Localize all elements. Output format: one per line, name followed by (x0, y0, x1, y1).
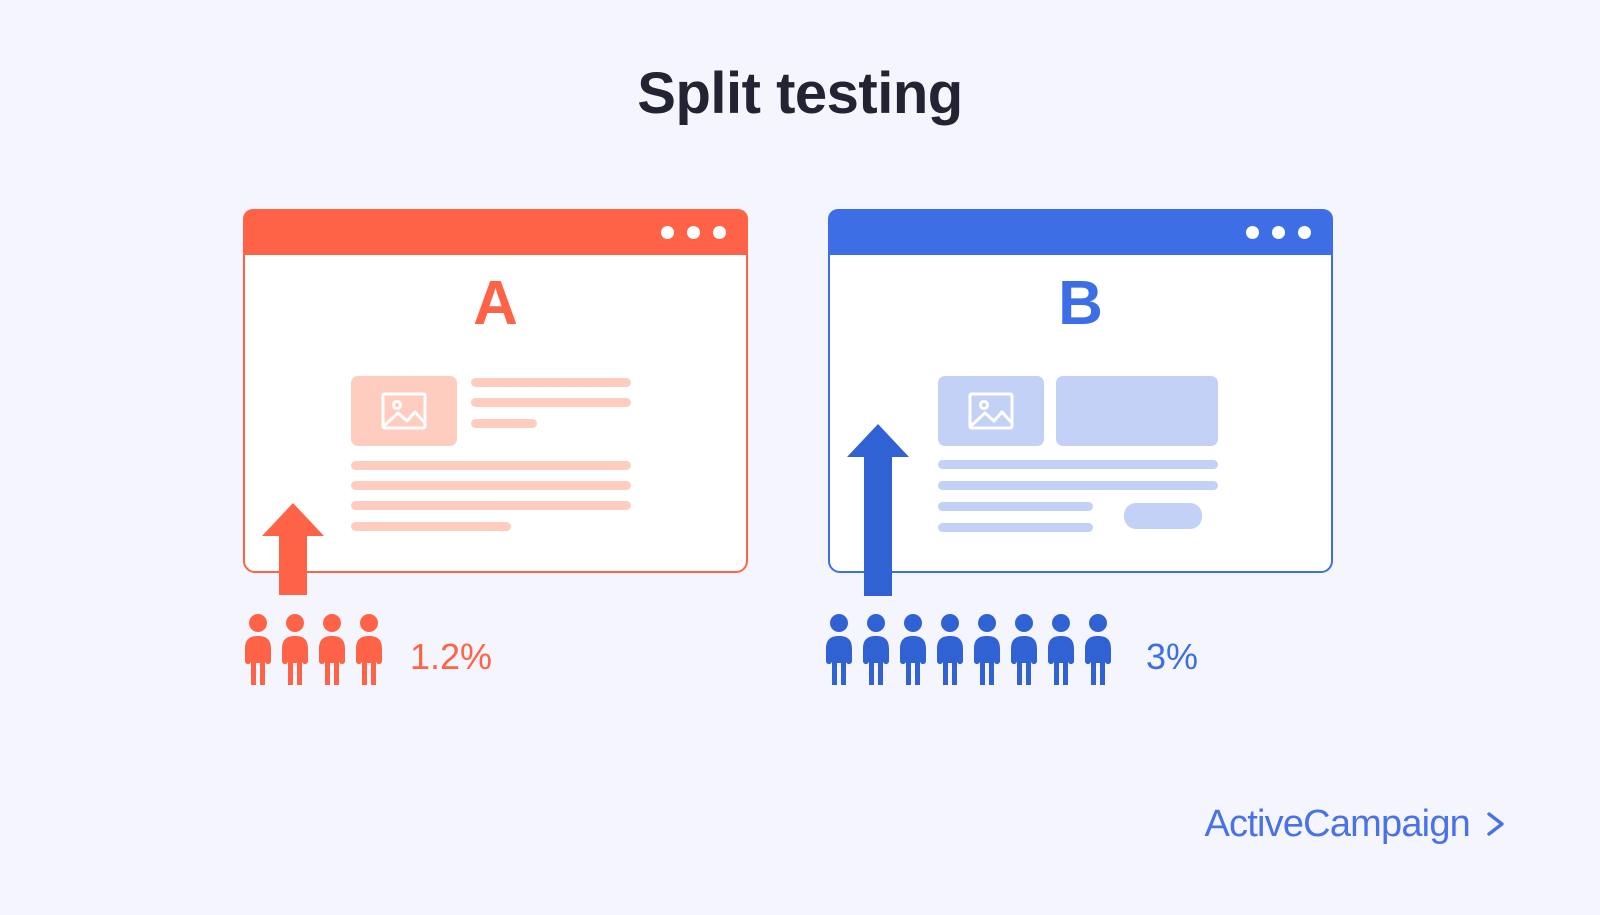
variant-letter-b: B (828, 273, 1333, 335)
person-icon (354, 613, 384, 685)
person-icon (972, 613, 1002, 685)
content-line (471, 378, 631, 387)
person-icon (243, 613, 273, 685)
window-dot-icon[interactable] (1272, 226, 1285, 239)
window-dot-icon[interactable] (1298, 226, 1311, 239)
growth-arrow-a (262, 503, 324, 595)
person-icon (280, 613, 310, 685)
content-cta-button-b[interactable] (1124, 503, 1202, 529)
variant-letter-a: A (243, 273, 748, 335)
growth-arrow-b (847, 424, 909, 596)
window-dot-icon[interactable] (1246, 226, 1259, 239)
content-block-b (1056, 376, 1218, 446)
content-line (471, 419, 537, 428)
content-image-placeholder-b (938, 376, 1044, 446)
logo-wordmark: ActiveCampaign (1205, 805, 1471, 843)
activecampaign-logo[interactable]: ActiveCampaign (1205, 805, 1515, 843)
people-row-a (243, 613, 384, 685)
window-dots-a (661, 226, 726, 239)
conversion-rate-a: 1.2% (410, 639, 492, 675)
chevron-right-icon (1480, 807, 1514, 841)
conversion-rate-b: 3% (1146, 639, 1198, 675)
content-line (351, 481, 631, 490)
content-line (938, 523, 1093, 532)
person-icon (1046, 613, 1076, 685)
page-title: Split testing (0, 62, 1600, 126)
image-icon (968, 392, 1014, 430)
slide-canvas: Split testing A (0, 0, 1600, 915)
image-icon (381, 392, 427, 430)
person-icon (898, 613, 928, 685)
person-icon (317, 613, 347, 685)
content-line (938, 502, 1093, 511)
window-dot-icon[interactable] (687, 226, 700, 239)
content-line (351, 501, 631, 510)
content-image-placeholder-a (351, 376, 457, 446)
window-dot-icon[interactable] (661, 226, 674, 239)
content-line (351, 522, 511, 531)
window-dot-icon[interactable] (713, 226, 726, 239)
person-icon (861, 613, 891, 685)
person-icon (1009, 613, 1039, 685)
content-line (938, 481, 1218, 490)
person-icon (935, 613, 965, 685)
person-icon (1083, 613, 1113, 685)
content-line (471, 398, 631, 407)
content-line (938, 460, 1218, 469)
content-line (351, 461, 631, 470)
window-titlebar-b (828, 209, 1333, 255)
people-row-b (824, 613, 1113, 685)
window-dots-b (1246, 226, 1311, 239)
person-icon (824, 613, 854, 685)
window-titlebar-a (243, 209, 748, 255)
